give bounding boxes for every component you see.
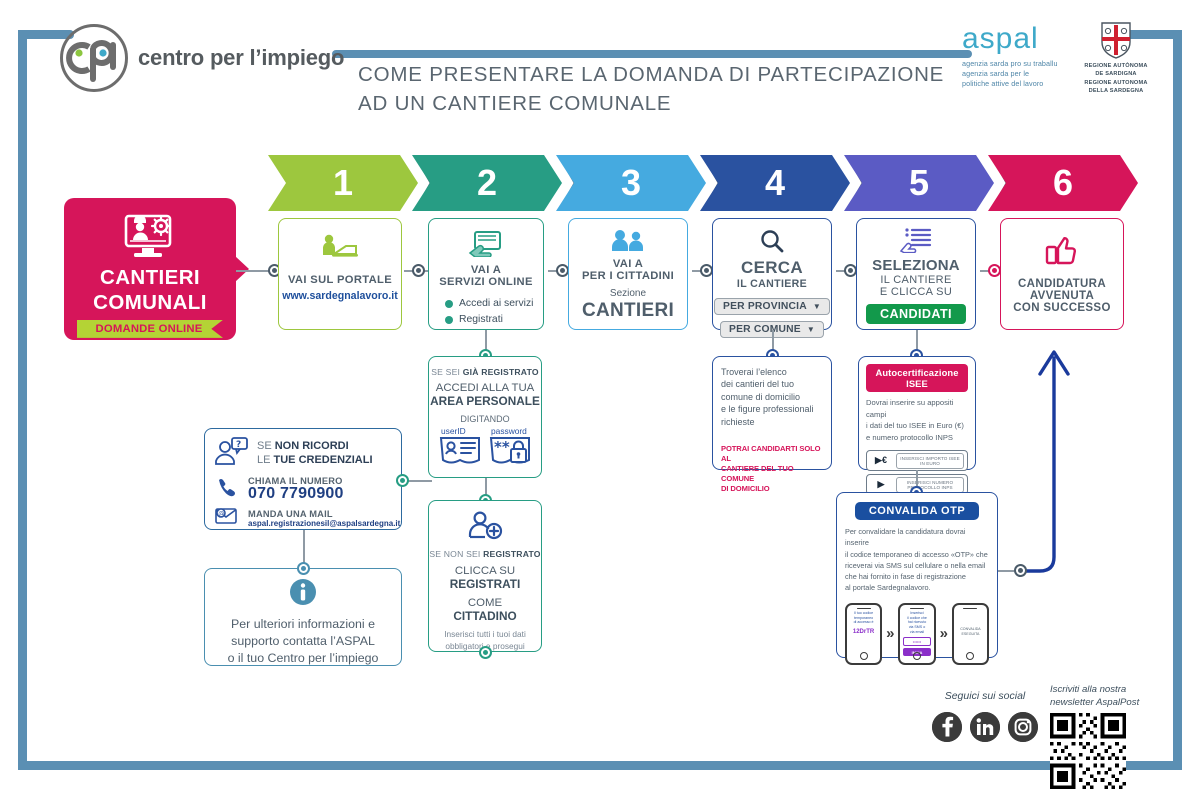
branch-dot-step2-bottom <box>479 646 492 659</box>
step-3-number: 3 <box>621 162 641 204</box>
social-section: Seguici sui social <box>932 690 1038 742</box>
step-5-subtitle-line1: IL CANTIERE <box>857 274 975 286</box>
step-4-title: CERCA <box>713 258 831 278</box>
magnifier-icon <box>713 228 831 259</box>
step-5-chevron: 5 <box>844 155 994 211</box>
frame-right-bar <box>1173 30 1182 770</box>
newsletter-section: Iscriviti alla nostra newsletter AspalPo… <box>1050 684 1139 789</box>
step-2-number: 2 <box>477 162 497 204</box>
newsletter-label: Iscriviti alla nostra newsletter AspalPo… <box>1050 684 1139 709</box>
password-lock-icon[interactable]: ** <box>489 436 531 471</box>
step-4-number: 4 <box>765 162 785 204</box>
registered-line2: ACCEDI ALLA TUA <box>429 382 541 394</box>
linkedin-icon[interactable] <box>970 712 1000 742</box>
cred-title-bold2: TUE CREDENZIALI <box>274 454 373 466</box>
step-6-number: 6 <box>1053 162 1073 204</box>
step-2-bullet-0-label: Accedi ai servizi <box>459 298 534 309</box>
registered-bold: GIÀ REGISTRATO <box>463 367 539 377</box>
step-1-title: VAI SUL PORTALE <box>279 274 401 286</box>
person-question-icon: ? <box>213 437 249 472</box>
cred-title-bold1: NON RICORDI <box>275 440 349 452</box>
step-6-chevron: 6 <box>988 155 1138 211</box>
not-registered-line5: CITTADINO <box>429 609 541 623</box>
mail-label: MANDA UNA MAIL <box>248 509 400 519</box>
thumbs-up-icon <box>1001 235 1123 270</box>
registered-prefix: SE SEI <box>431 367 463 377</box>
userid-label: userID <box>439 426 481 436</box>
svg-text:@: @ <box>218 511 224 518</box>
step-5-subtitle-line2: E CLICCA SU <box>857 286 975 298</box>
step-2-bullet-1-label: Registrati <box>459 314 503 325</box>
step-4-subtitle: IL CANTIERE <box>713 278 831 290</box>
step-3-sub: Sezione <box>569 288 687 299</box>
domicilio-paragraph-text: Troverai l’elenco dei cantieri del tuo c… <box>721 367 814 427</box>
hand-list-select-icon <box>857 227 975 258</box>
final-success-arrow <box>990 330 1110 585</box>
add-user-icon <box>429 511 541 546</box>
step-2-title-line1: VAI A <box>429 264 543 276</box>
cantieri-comunali-badge: CANTIERI COMUNALI DOMANDE ONLINE <box>64 198 236 340</box>
registered-line3: AREA PERSONALE <box>429 394 541 408</box>
not-registered-bold: REGISTRATO <box>483 549 541 559</box>
connector-dot-credentials <box>396 474 409 487</box>
step-1-chevron: 1 <box>268 155 418 211</box>
aspal-wordmark: aspal <box>962 22 1082 56</box>
frame-left-bar <box>18 30 27 770</box>
social-label: Seguici sui social <box>932 690 1038 702</box>
step-3-title-line2: PER I CITTADINI <box>569 270 687 282</box>
bullet-dot-icon <box>445 316 453 324</box>
arrow-separator-1-icon: » <box>886 625 894 642</box>
computer-worker-gear-icon <box>64 208 236 264</box>
infographic-canvas: centro per l’impiego COME PRESENTARE LA … <box>0 0 1200 800</box>
badge-title-line1: CANTIERI <box>64 268 236 289</box>
step-6-title-line1: CANDIDATURA <box>1001 278 1123 290</box>
connector-otp-to-arrow <box>998 570 1014 572</box>
info-box: Per ulteriori informazioni e supporto co… <box>204 568 402 666</box>
otp-phone-1-code: 12DrTR <box>850 629 877 635</box>
page-title: COME PRESENTARE LA DOMANDA DI PARTECIPAZ… <box>358 60 944 118</box>
step-1-number: 1 <box>333 162 353 204</box>
domicilio-paragraph: Troverai l’elenco dei cantieri del tuo c… <box>721 366 823 428</box>
chevron-down-icon: ▼ <box>807 325 815 334</box>
step-2-bullet-0[interactable]: Accedi ai servizi <box>445 298 543 309</box>
otp-phone-3: CONVALIDA ESEGUITA <box>952 603 989 665</box>
aspal-logo: aspal agenzia sarda pro su traballu agen… <box>962 22 1082 90</box>
dropdown-comune-label: PER COMUNE <box>729 324 801 335</box>
password-label: password <box>489 426 531 436</box>
otp-header-badge: CONVALIDA OTP <box>855 502 979 520</box>
step-2-chevron: 2 <box>412 155 562 211</box>
otp-paragraph: Per convalidare la candidatura dovrai in… <box>845 526 989 594</box>
arrow-right-icon: ▶ <box>870 479 892 490</box>
registered-box: SE SEI GIÀ REGISTRATO ACCEDI ALLA TUA AR… <box>428 356 542 478</box>
step-2-bullet-1[interactable]: Registrati <box>445 314 543 325</box>
step-6-title-line3: CON SUCCESSO <box>1001 302 1123 314</box>
info-circle-icon <box>205 578 401 611</box>
step-3-card: VAI A PER I CITTADINI Sezione CANTIERI <box>568 218 688 330</box>
step-6-card: CANDIDATURA AVVENUTA CON SUCCESSO <box>1000 218 1124 330</box>
step-3-title-line1: VAI A <box>569 258 687 270</box>
cpi-logo-icon <box>60 24 128 92</box>
frame-title-rule <box>332 50 972 58</box>
id-card-icon[interactable] <box>439 436 481 471</box>
person-laptop-icon <box>279 233 401 266</box>
step-1-card: VAI SUL PORTALE www.sardegnalavoro.it <box>278 218 402 330</box>
step-2-card: VAI A SERVIZI ONLINE Accedi ai servizi R… <box>428 218 544 330</box>
step-2-title-line2: SERVIZI ONLINE <box>429 276 543 288</box>
chevron-down-icon: ▼ <box>813 302 821 311</box>
isee-amount-field-row[interactable]: ▶€ INSERISCI IMPORTO ISEE IN EURO <box>866 450 968 471</box>
step-5-number: 5 <box>909 162 929 204</box>
registered-line4: DIGITANDO <box>429 414 541 424</box>
not-registered-line2: CLICCA SU <box>429 565 541 577</box>
step-4-chevron: 4 <box>700 155 850 211</box>
isee-amount-input[interactable]: INSERISCI IMPORTO ISEE IN EURO <box>896 453 964 469</box>
badge-ribbon: DOMANDE ONLINE <box>77 320 223 338</box>
svg-text:?: ? <box>236 440 241 450</box>
otp-phone-2-button[interactable]: INVIA <box>903 648 930 656</box>
euro-icon: ▶€ <box>870 455 892 466</box>
step-6-title-line2: AVVENUTA <box>1001 290 1123 302</box>
social-icon-list <box>932 712 1038 742</box>
phone-number[interactable]: 070 7790900 <box>248 485 344 503</box>
step-4-card: CERCA IL CANTIERE PER PROVINCIA▼ PER COM… <box>712 218 832 330</box>
svg-text:**: ** <box>494 438 510 456</box>
not-registered-box: SE NON SEI REGISTRATO CLICCA SU REGISTRA… <box>428 500 542 652</box>
not-registered-prefix: SE NON SEI <box>429 549 483 559</box>
otp-phone-1-text: Il tuo codice temporaneo di accesso è <box>850 611 877 626</box>
otp-phone-2-text: Inserisci il codice che hai ricevuto via… <box>903 611 930 635</box>
credentials-box: ? SE NON RICORDI LE TUE CREDENZIALI CHIA… <box>204 428 402 530</box>
otp-phone-3-text: CONVALIDA ESEGUITA <box>957 627 984 637</box>
isee-protocol-input[interactable]: INSERISCI NUMERO PROTOCOLLO INPS <box>896 477 964 493</box>
cred-title-light1: SE <box>257 440 275 452</box>
not-registered-line4: COME <box>429 597 541 609</box>
otp-phone-2: Inserisci il codice che hai ricevuto via… <box>898 603 935 665</box>
hand-click-card-icon <box>429 229 543 262</box>
qr-code-icon[interactable] <box>1050 713 1126 789</box>
cpi-logo: centro per l’impiego <box>60 24 344 92</box>
two-people-icon <box>569 229 687 258</box>
info-box-text: Per ulteriori informazioni e supporto co… <box>205 616 401 667</box>
mail-address[interactable]: aspal.registrazionesil@aspalsardegna.it <box>248 519 400 528</box>
arrow-separator-2-icon: » <box>940 625 948 642</box>
bullet-dot-icon <box>445 300 453 308</box>
frame-bottom-bar <box>18 761 1182 770</box>
badge-title-line2: COMUNALI <box>64 293 236 314</box>
domicilio-box: Troverai l’elenco dei cantieri del tuo c… <box>712 356 832 470</box>
isee-box: Autocertificazione ISEE Dovrai inserire … <box>858 356 976 470</box>
isee-header-badge: Autocertificazione ISEE <box>866 364 968 392</box>
cpi-brand-text: centro per l’impiego <box>138 45 344 71</box>
cred-title-light2: LE <box>257 454 274 466</box>
step-3-chevron: 3 <box>556 155 706 211</box>
step-4-dropdown-provincia[interactable]: PER PROVINCIA▼ <box>714 298 830 315</box>
connector-dot-info <box>297 562 310 575</box>
aspal-tagline: agenzia sarda pro su traballu agenzia sa… <box>962 59 1082 90</box>
connector-dot-2 <box>412 264 425 277</box>
regione-sardegna-logo: REGIONE AUTÒNOMA DE SARDIGNA REGIONE AUT… <box>1068 20 1164 96</box>
domicilio-warning: POTRAI CANDIDARTI SOLO AL CANTIERE DEL T… <box>721 444 823 494</box>
candidati-button[interactable]: CANDIDATI <box>866 304 966 324</box>
dropdown-provincia-label: PER PROVINCIA <box>723 301 807 312</box>
instagram-icon[interactable] <box>1008 712 1038 742</box>
step-5-card: SELEZIONA IL CANTIERE E CLICCA SU CANDID… <box>856 218 976 330</box>
step-5-title: SELEZIONA <box>857 257 975 274</box>
badge-pointer-arrow <box>235 256 249 282</box>
connector-dot-arrow-base <box>1014 564 1027 577</box>
phone-icon <box>213 477 239 502</box>
otp-phone-2-input[interactable]: •••••• <box>903 637 930 646</box>
otp-phone-1: Il tuo codice temporaneo di accesso è 12… <box>845 603 882 665</box>
step-1-url[interactable]: www.sardegnalavoro.it <box>279 290 401 302</box>
otp-box: CONVALIDA OTP Per convalidare la candida… <box>836 492 998 658</box>
isee-paragraph: Dovrai inserire su appositi campi i dati… <box>866 397 968 443</box>
facebook-icon[interactable] <box>932 712 962 742</box>
envelope-at-icon: @ <box>213 507 239 530</box>
not-registered-line3: REGISTRATI <box>429 577 541 591</box>
step-3-section-name: CANTIERI <box>569 300 687 322</box>
regione-sardegna-text: REGIONE AUTÒNOMA DE SARDIGNA REGIONE AUT… <box>1068 62 1164 96</box>
